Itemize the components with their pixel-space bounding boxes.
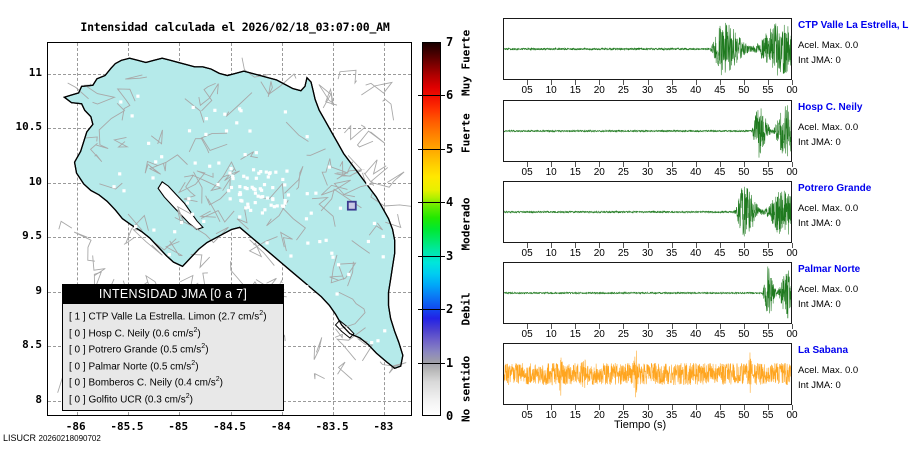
lon-tick-label: -85 [150, 420, 206, 433]
time-tick-label: 00 [786, 410, 797, 421]
legend-station-row: [ 0 ] Potrero Grande (0.5 cm/s2) [69, 340, 279, 357]
seismogram-trace [504, 263, 791, 323]
seismogram-panel[interactable] [503, 181, 792, 243]
time-tick-label: 50 [738, 248, 749, 259]
lon-tick-label: -84.5 [202, 420, 258, 433]
max-acceleration-label: Acel. Max. 0.0 [798, 203, 858, 214]
time-tick-label: 30 [642, 167, 653, 178]
time-tick-label: 30 [642, 248, 653, 259]
jma-colorbar: 01234567No sentidoDebilModeradoFuerteMuy… [422, 42, 441, 416]
colorbar-category-label: Debil [460, 293, 473, 326]
legend-header: INTENSIDAD JMA [0 a 7] [63, 285, 283, 304]
legend-station-row: [ 0 ] Bomberos C. Neily (0.4 cm/s2) [69, 373, 279, 390]
time-tick-label: 15 [570, 410, 581, 421]
legend-station-row: [ 0 ] Hosp C. Neily (0.6 cm/s2) [69, 324, 279, 341]
time-tick-label: 00 [786, 167, 797, 178]
time-tick-label: 15 [570, 329, 581, 340]
time-axis-labels: 051015202530354045505500 [503, 85, 792, 99]
jma-intensity-label: Int JMA: 0 [798, 218, 841, 229]
colorbar-tick-label: 6 [446, 88, 453, 102]
colorbar-gradient [422, 42, 441, 416]
time-tick-label: 05 [522, 248, 533, 259]
legend-station-row: [ 1 ] CTP Valle La Estrella. Limon (2.7 … [69, 307, 279, 324]
max-acceleration-label: Acel. Max. 0.0 [798, 122, 858, 133]
time-axis-labels: 051015202530354045505500 [503, 167, 792, 181]
time-tick-label: 40 [690, 329, 701, 340]
page-title: Intensidad calculada el 2026/02/18_03:07… [60, 20, 410, 34]
time-tick-label: 25 [618, 248, 629, 259]
time-tick-label: 05 [522, 85, 533, 96]
lon-tick-label: -85.5 [99, 420, 155, 433]
time-tick-label: 00 [786, 329, 797, 340]
legend-station-level: [ 0 ] [69, 377, 86, 388]
time-tick-label: 40 [690, 248, 701, 259]
legend-station-accel: (0.3 cm/s [145, 394, 186, 405]
colorbar-tick-label: 1 [446, 356, 453, 370]
legend-accel-close: ) [220, 377, 223, 388]
colorbar-category-label: No sentido [460, 356, 473, 422]
time-tick-label: 25 [618, 329, 629, 340]
station-name-label[interactable]: Palmar Norte [798, 264, 860, 275]
lat-tick-label: 9 [0, 284, 42, 297]
colorbar-tick-label: 7 [446, 35, 453, 49]
legend-accel-close: ) [190, 394, 193, 405]
time-tick-label: 00 [786, 248, 797, 259]
legend-station-accel: (0.5 cm/s [160, 344, 201, 355]
time-tick-label: 10 [546, 248, 557, 259]
legend-station-accel: (2.7 cm/s [218, 311, 259, 322]
legend-station-name: Palmar Norte [86, 361, 150, 372]
lat-tick-label: 10 [0, 175, 42, 188]
time-tick-label: 20 [594, 248, 605, 259]
time-tick-label: 20 [594, 167, 605, 178]
lon-tick-label: -83.5 [304, 420, 360, 433]
max-acceleration-label: Acel. Max. 0.0 [798, 365, 858, 376]
time-tick-label: 25 [618, 85, 629, 96]
colorbar-tick-label: 2 [446, 302, 453, 316]
time-tick-label: 00 [786, 85, 797, 96]
colorbar-category-label: Fuerte [460, 113, 473, 153]
colorbar-tick [418, 149, 445, 150]
colorbar-tick [418, 309, 445, 310]
legend-station-level: [ 0 ] [69, 361, 86, 372]
legend-accel-close: ) [195, 361, 198, 372]
station-name-label[interactable]: Potrero Grande [798, 183, 871, 194]
seismogram-trace [504, 19, 791, 79]
station-name-label[interactable]: CTP Valle La Estrella, L [798, 20, 908, 31]
seismogram-trace [504, 182, 791, 242]
time-tick-label: 40 [690, 85, 701, 96]
lat-tick-label: 8.5 [0, 338, 42, 351]
time-tick-label: 50 [738, 329, 749, 340]
station-name-label[interactable]: Hosp C. Neily [798, 102, 862, 113]
time-tick-label: 15 [570, 248, 581, 259]
jma-intensity-label: Int JMA: 0 [798, 380, 841, 391]
time-tick-label: 20 [594, 410, 605, 421]
legend-station-row: [ 0 ] Palmar Norte (0.5 cm/s2) [69, 357, 279, 374]
max-acceleration-label: Acel. Max. 0.0 [798, 40, 858, 51]
lat-tick-label: 9.5 [0, 229, 42, 242]
time-tick-label: 10 [546, 329, 557, 340]
jma-intensity-label: Int JMA: 0 [798, 299, 841, 310]
time-tick-label: 35 [666, 410, 677, 421]
time-tick-label: 15 [570, 85, 581, 96]
legend-station-accel: (0.5 cm/s [150, 361, 191, 372]
colorbar-category-label: Muy Fuerte [460, 30, 473, 96]
time-axis-labels: 051015202530354045505500 [503, 329, 792, 343]
time-tick-label: 55 [762, 167, 773, 178]
footer-id: 20260218090702 [39, 434, 101, 443]
time-tick-label: 50 [738, 410, 749, 421]
time-tick-label: 35 [666, 248, 677, 259]
seismogram-trace [504, 344, 791, 404]
time-tick-label: 40 [690, 167, 701, 178]
legend-station-name: CTP Valle La Estrella. Limon [86, 311, 218, 322]
time-tick-label: 05 [522, 410, 533, 421]
time-tick-label: 35 [666, 329, 677, 340]
time-tick-label: 45 [714, 85, 725, 96]
time-tick-label: 55 [762, 248, 773, 259]
time-tick-label: 15 [570, 167, 581, 178]
colorbar-tick [418, 202, 445, 203]
time-tick-label: 10 [546, 410, 557, 421]
lat-tick-label: 10.5 [0, 120, 42, 133]
colorbar-category-label: Moderado [460, 197, 473, 250]
time-axis-labels: 051015202530354045505500 [503, 248, 792, 262]
time-tick-label: 45 [714, 329, 725, 340]
lon-tick-label: -86 [48, 420, 104, 433]
lat-tick-label: 8 [0, 393, 42, 406]
time-tick-label: 20 [594, 329, 605, 340]
time-tick-label: 25 [618, 167, 629, 178]
colorbar-tick [418, 256, 445, 257]
time-tick-label: 55 [762, 85, 773, 96]
footer-agency: LISUCR [3, 433, 36, 443]
seismogram-panel[interactable] [503, 343, 792, 405]
seismogram-trace [504, 101, 791, 161]
time-tick-label: 45 [714, 248, 725, 259]
time-tick-label: 10 [546, 85, 557, 96]
max-acceleration-label: Acel. Max. 0.0 [798, 284, 858, 295]
legend-station-list: [ 1 ] CTP Valle La Estrella. Limon (2.7 … [63, 304, 283, 410]
seismogram-panel[interactable] [503, 262, 792, 324]
time-tick-label: 35 [666, 167, 677, 178]
station-name-label[interactable]: La Sabana [798, 345, 848, 356]
legend-station-name: Potrero Grande [86, 344, 160, 355]
time-tick-label: 45 [714, 167, 725, 178]
lon-tick-label: -84 [253, 420, 309, 433]
intensity-legend: INTENSIDAD JMA [0 a 7] [ 1 ] CTP Valle L… [62, 284, 284, 411]
colorbar-tick-label: 5 [446, 142, 453, 156]
time-tick-label: 30 [642, 85, 653, 96]
legend-accel-close: ) [205, 344, 208, 355]
legend-station-level: [ 0 ] [69, 328, 86, 339]
time-tick-label: 30 [642, 329, 653, 340]
legend-station-name: Bomberos C. Neily [86, 377, 175, 388]
time-tick-label: 40 [690, 410, 701, 421]
time-tick-label: 55 [762, 329, 773, 340]
colorbar-tick [418, 363, 445, 364]
seismogram-panel[interactable] [503, 100, 792, 162]
legend-station-name: Golfito UCR [86, 394, 145, 405]
footer-credit: LISUCR 20260218090702 [3, 433, 101, 443]
legend-station-accel: (0.4 cm/s [175, 377, 216, 388]
legend-station-row: [ 0 ] Golfito UCR (0.3 cm/s2) [69, 390, 279, 407]
time-tick-label: 50 [738, 167, 749, 178]
time-tick-label: 45 [714, 410, 725, 421]
time-tick-label: 55 [762, 410, 773, 421]
colorbar-tick [418, 95, 445, 96]
seismogram-panel[interactable] [503, 18, 792, 80]
legend-accel-close: ) [263, 311, 266, 322]
time-tick-label: 05 [522, 329, 533, 340]
colorbar-tick-label: 0 [446, 409, 453, 423]
time-tick-label: 50 [738, 85, 749, 96]
lat-tick-label: 11 [0, 66, 42, 79]
time-tick-label: 20 [594, 85, 605, 96]
time-tick-label: 35 [666, 85, 677, 96]
legend-station-level: [ 1 ] [69, 311, 86, 322]
jma-intensity-label: Int JMA: 0 [798, 137, 841, 148]
jma-intensity-label: Int JMA: 0 [798, 55, 841, 66]
legend-accel-close: ) [197, 328, 200, 339]
legend-station-name: Hosp C. Neily [86, 328, 153, 339]
legend-station-level: [ 0 ] [69, 344, 86, 355]
time-tick-label: 05 [522, 167, 533, 178]
legend-station-level: [ 0 ] [69, 394, 86, 405]
time-axis-label: Tiempo (s) [614, 419, 666, 431]
legend-station-accel: (0.6 cm/s [152, 328, 193, 339]
lon-tick-label: -83 [355, 420, 411, 433]
time-tick-label: 10 [546, 167, 557, 178]
colorbar-tick-label: 4 [446, 195, 453, 209]
colorbar-tick-label: 3 [446, 249, 453, 263]
